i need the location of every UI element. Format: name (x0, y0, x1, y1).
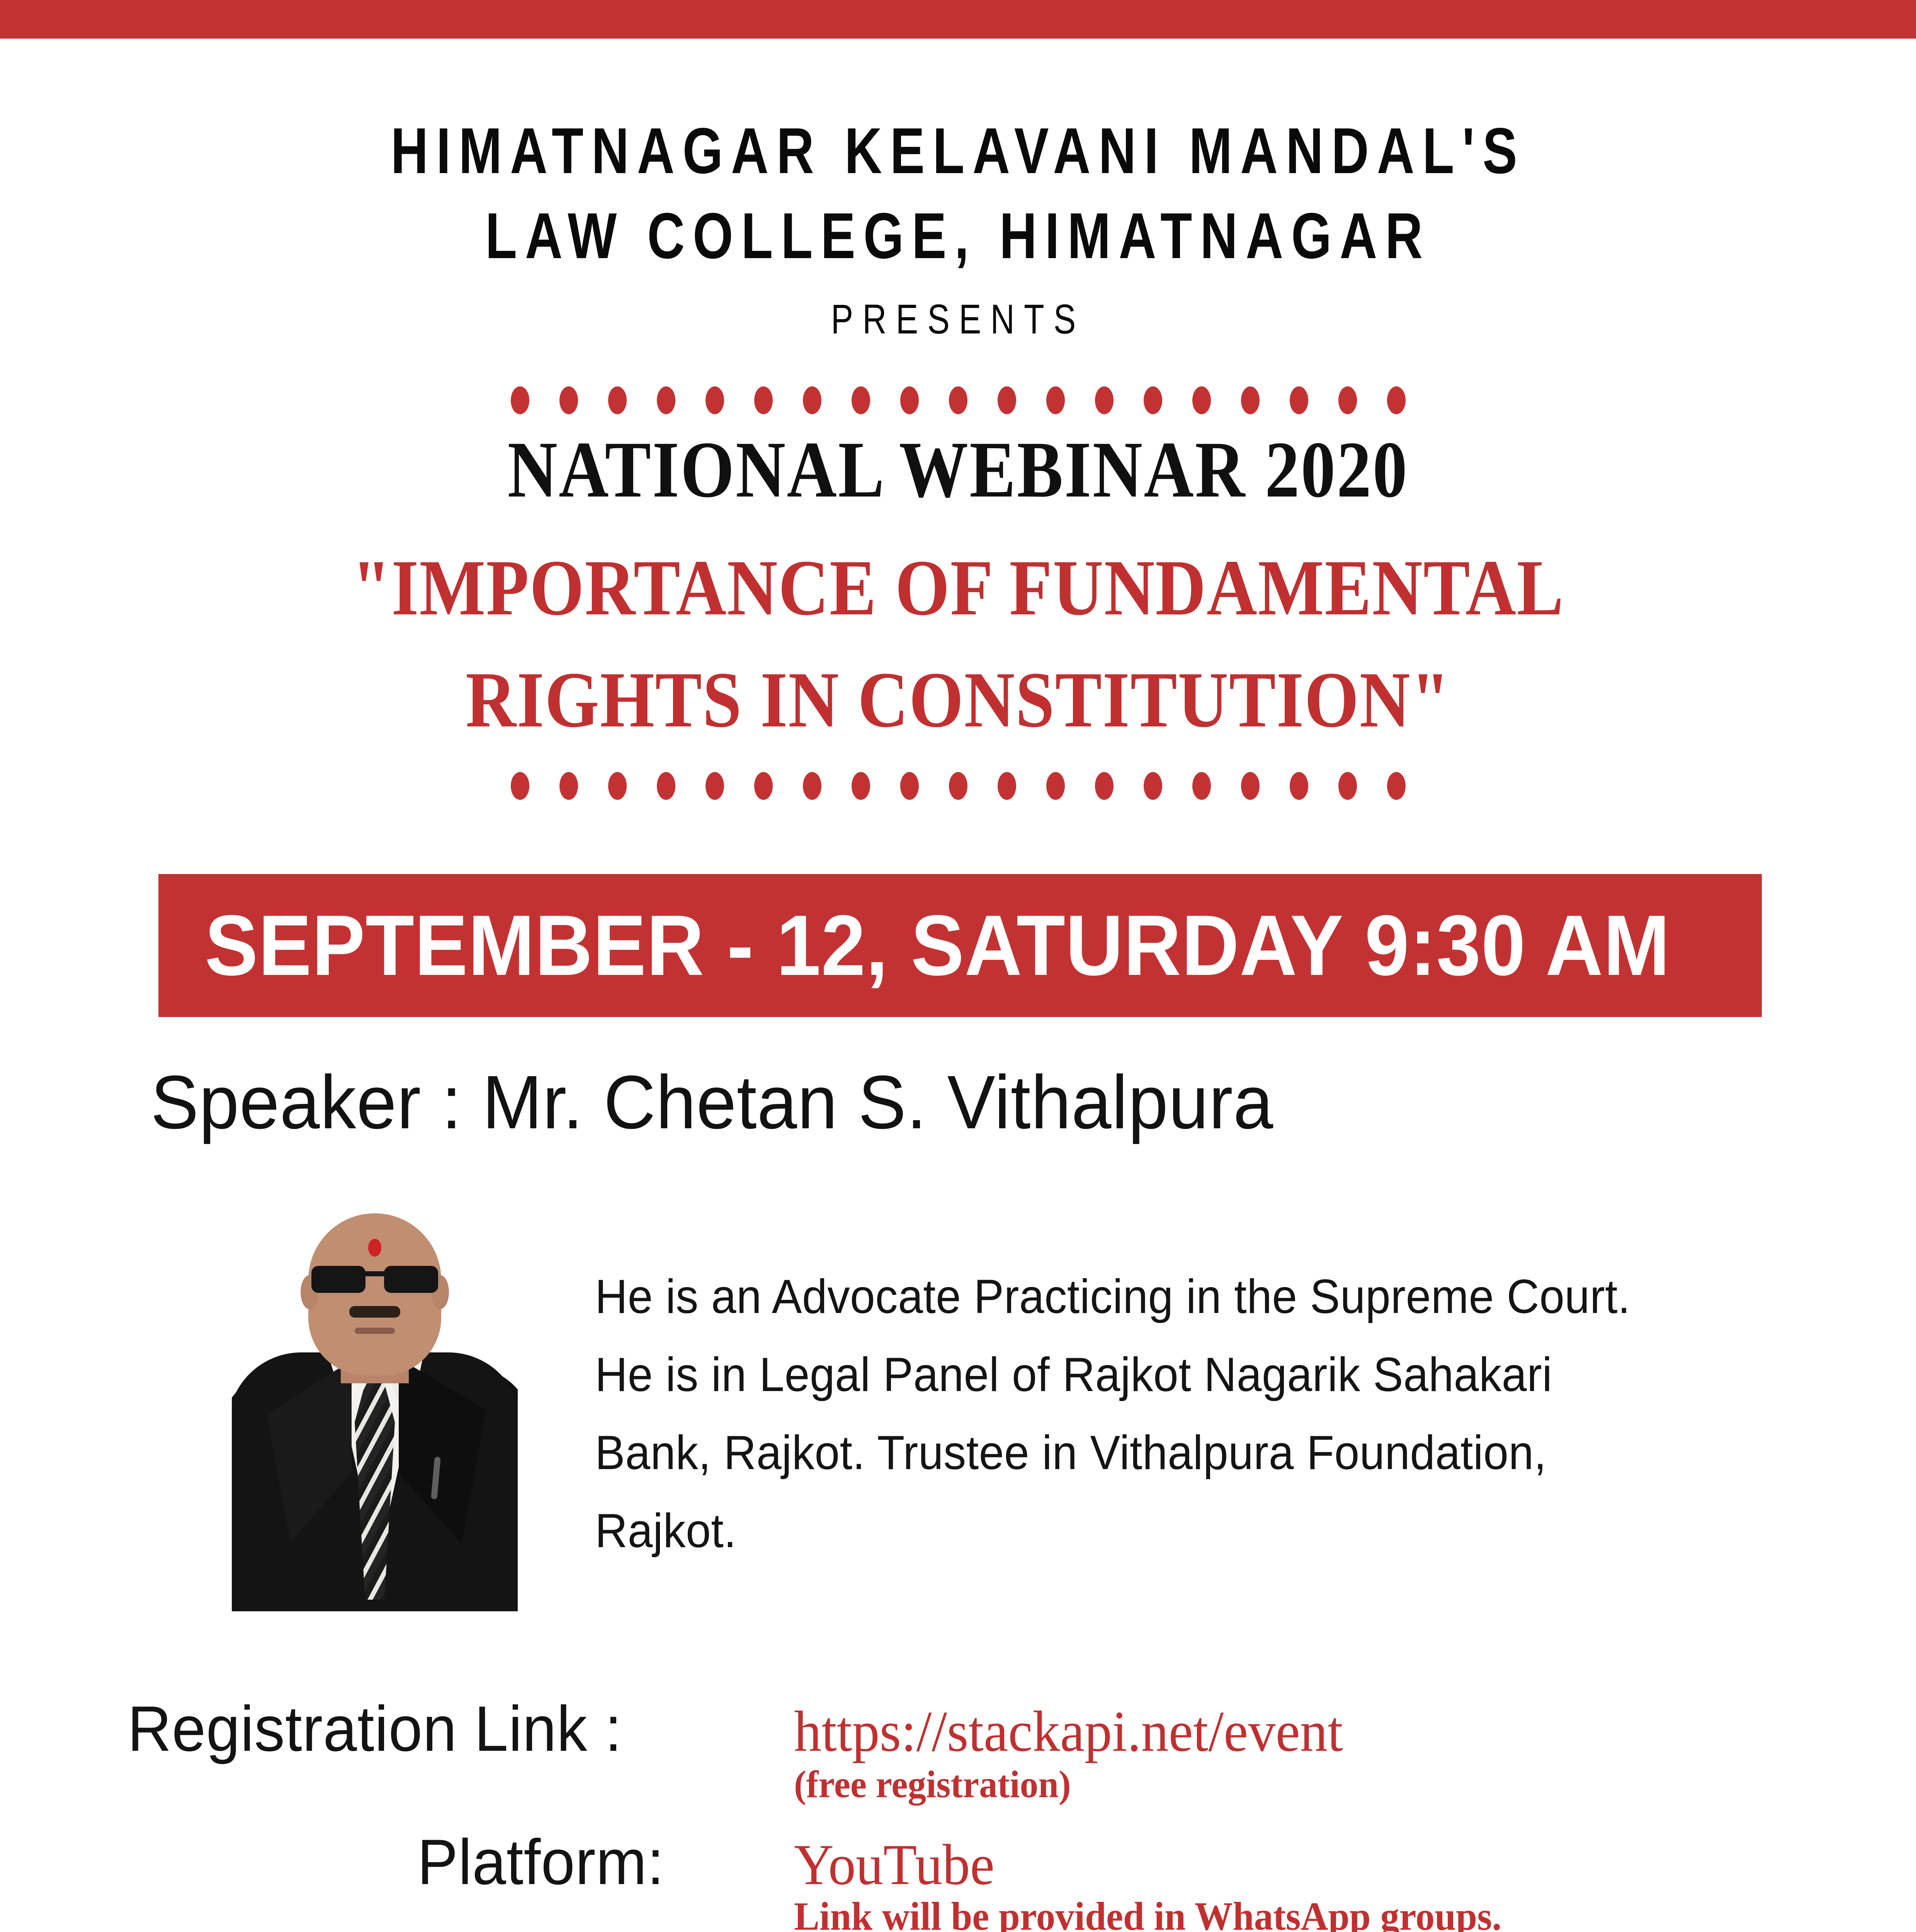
speaker-heading: Speaker : Mr. Chetan S. Vithalpura (151, 1059, 1273, 1146)
decorative-dot (1144, 772, 1162, 800)
date-time-banner: SEPTEMBER - 12, SATURDAY 9:30 AM (158, 874, 1762, 1017)
event-type-title: NATIONAL WEBINAR 2020 (134, 421, 1782, 518)
poster-header: HIMATNAGAR KELAVANI MANDAL'S LAW COLLEGE… (0, 108, 1916, 350)
registration-link-label: Registration Link : (128, 1692, 622, 1766)
decorative-dot (608, 386, 627, 414)
photo-head (308, 1213, 441, 1376)
speaker-bio: He is an Advocate Practicing in the Supr… (595, 1258, 1670, 1570)
decorative-dot (657, 386, 675, 414)
decorative-dot (852, 386, 870, 414)
decorative-dot (1290, 772, 1308, 800)
decorative-dot (559, 772, 578, 800)
top-accent-bar (0, 0, 1916, 39)
decorative-dot (754, 386, 773, 414)
decorative-dot (657, 772, 675, 800)
decorative-dot (559, 386, 578, 414)
decorative-dot (1095, 772, 1114, 800)
decorative-dot (900, 772, 919, 800)
decorative-dot (1338, 386, 1357, 414)
photo-tilak-mark (368, 1239, 381, 1257)
topic-line-2: RIGHTS IN CONSTITUTION" (115, 644, 1801, 756)
decorative-dot (1241, 386, 1260, 414)
decorative-dot (1144, 386, 1162, 414)
decorative-dot (1338, 772, 1357, 800)
decorative-dot (900, 386, 919, 414)
decorative-dot (1290, 386, 1308, 414)
decorative-dot (1387, 386, 1406, 414)
decorative-dot (511, 772, 529, 800)
photo-lens-left (311, 1266, 366, 1293)
registration-link-url[interactable]: https://stackapi.net/event (794, 1698, 1343, 1765)
platform-value: YouTube (794, 1832, 995, 1898)
decorative-dot (803, 386, 821, 414)
platform-label: Platform: (417, 1826, 665, 1899)
date-time-text: SEPTEMBER - 12, SATURDAY 9:30 AM (205, 896, 1670, 995)
sunglasses-icon (310, 1264, 440, 1294)
photo-lens-right (384, 1266, 438, 1293)
decorative-dot (1387, 772, 1406, 800)
event-title-block: NATIONAL WEBINAR 2020 "IMPORTANCE OF FUN… (0, 421, 1916, 756)
decorative-dot (754, 772, 773, 800)
decorative-dot (852, 772, 870, 800)
decorative-dot (949, 772, 967, 800)
decorative-dot (706, 772, 724, 800)
decorative-dot (998, 386, 1016, 414)
organization-line-2: LAW COLLEGE, HIMATNAGAR (192, 193, 1724, 278)
decorative-dot (803, 772, 821, 800)
decorative-dot (1046, 772, 1065, 800)
decorative-dot (1241, 772, 1260, 800)
decorative-dot (1192, 772, 1211, 800)
decorative-dot (706, 386, 724, 414)
decorative-dot (949, 386, 967, 414)
topic-line-1: "IMPORTANCE OF FUNDAMENTAL (115, 532, 1801, 644)
decorative-dot (1046, 386, 1065, 414)
platform-note: Link will be provided in WhatsApp groups… (794, 1893, 1501, 1932)
dot-divider-bottom (0, 772, 1916, 800)
decorative-dot (998, 772, 1016, 800)
presents-label: PRESENTS (192, 288, 1724, 350)
registration-free-note: (free registration) (794, 1762, 1071, 1806)
dot-divider-top (0, 386, 1916, 414)
organization-line-1: HIMATNAGAR KELAVANI MANDAL'S (192, 108, 1724, 193)
speaker-photo (232, 1190, 518, 1611)
decorative-dot (1095, 386, 1114, 414)
decorative-dot (608, 772, 627, 800)
photo-moustache (349, 1306, 400, 1318)
photo-glasses-bridge (365, 1271, 385, 1276)
decorative-dot (1192, 386, 1211, 414)
photo-mouth (355, 1328, 395, 1334)
decorative-dot (511, 386, 529, 414)
